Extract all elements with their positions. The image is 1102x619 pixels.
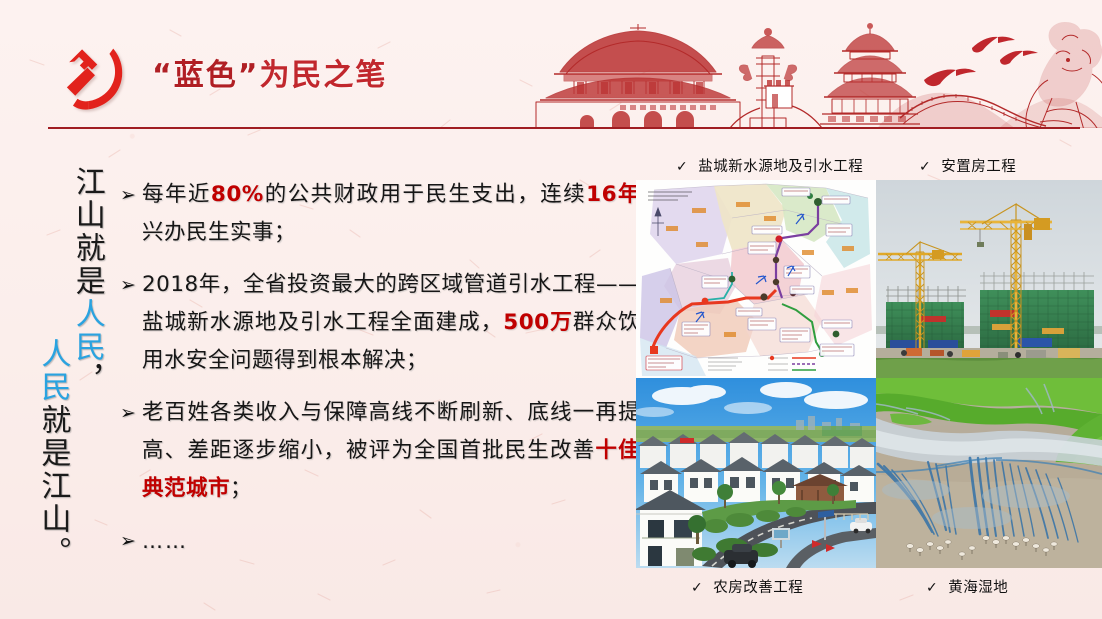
bullet-text-1: 每年近80%的公共财政用于民生支出，连续16年兴办民生实事； xyxy=(142,176,640,252)
list-item: ➢ 2018年，全省投资最大的跨区域管道引水工程——盐城新水源地及引水工程全面建… xyxy=(120,266,640,380)
check-icon: ✓ xyxy=(919,159,931,175)
bullet-text-3: 老百姓各类收入与保障高线不断刷新、底线一再提高、差距逐步缩小，被评为全国首批民生… xyxy=(142,394,640,508)
check-icon: ✓ xyxy=(926,580,938,596)
list-item: ➢ 每年近80%的公共财政用于民生支出，连续16年兴办民生实事； xyxy=(120,176,640,252)
bullet-3-seg-0: 老百姓各类收入与保障高线不断刷新、底线一再提高、差距逐步缩小，被评为全国首批民生… xyxy=(142,400,640,463)
cpc-hammer-sickle-emblem-icon xyxy=(57,40,133,118)
caption-bottom-left-label: 农房改善工程 xyxy=(713,580,803,596)
bullet-3-seg-2: ； xyxy=(230,476,252,501)
vq-l-b: 就是江山。 xyxy=(35,404,70,569)
vq-r-a: 江山就是 xyxy=(70,166,105,298)
check-icon: ✓ xyxy=(676,159,688,175)
slide-header: “蓝色”为民之笔 xyxy=(0,0,1102,132)
vq-l-a: 人民 xyxy=(35,338,70,404)
slide-canvas: “蓝色”为民之笔 xyxy=(0,0,1102,619)
bullet-arrow-icon: ➢ xyxy=(120,394,142,432)
title-quote-open: “ xyxy=(152,58,174,93)
photo-yellow-sea-wetland xyxy=(876,378,1102,568)
caption-top-left-label: 盐城新水源地及引水工程 xyxy=(698,159,863,175)
vq-r-b: 人民 xyxy=(70,298,105,364)
photo-grid: ✓盐城新水源地及引水工程 ✓安置房工程 xyxy=(636,180,1102,570)
photo-rural-village xyxy=(636,378,876,568)
list-item: ➢ 老百姓各类收入与保障高线不断刷新、底线一再提高、差距逐步缩小，被评为全国首批… xyxy=(120,394,640,508)
vq-r-c: ， xyxy=(70,364,105,397)
vertical-quote: 江山就是人民， 人民就是江山。 xyxy=(36,166,103,569)
caption-top-right: ✓安置房工程 xyxy=(919,155,1016,176)
check-icon: ✓ xyxy=(691,580,703,596)
bullet-1-seg-0: 每年近 xyxy=(142,182,211,207)
caption-top-left: ✓盐城新水源地及引水工程 xyxy=(676,155,863,176)
title-quote-close: ” xyxy=(238,58,260,93)
photo-construction-site xyxy=(876,180,1102,378)
header-divider xyxy=(48,127,1080,129)
bullet-arrow-icon: ➢ xyxy=(120,176,142,214)
page-title: “蓝色”为民之笔 xyxy=(152,50,387,94)
photo-water-source-map xyxy=(636,180,876,378)
caption-bottom-left: ✓农房改善工程 xyxy=(691,576,803,597)
bullet-1-seg-3: 16年 xyxy=(586,182,640,207)
title-rest: 为民之笔 xyxy=(259,58,387,93)
title-highlight: 蓝色 xyxy=(174,58,238,93)
bullet-list: ➢ 每年近80%的公共财政用于民生支出，连续16年兴办民生实事； ➢ 2018年… xyxy=(120,176,640,574)
tiananmen-landmark-lineart-icon xyxy=(520,6,1102,128)
vertical-quote-column-1: 江山就是人民， xyxy=(70,166,102,397)
bullet-text-2: 2018年，全省投资最大的跨区域管道引水工程——盐城新水源地及引水工程全面建成，… xyxy=(142,266,640,380)
list-item: ➢ …… xyxy=(120,522,640,560)
bullet-1-seg-2: 的公共财政用于民生支出，连续 xyxy=(264,182,586,207)
bullet-1-seg-1: 80% xyxy=(211,182,264,207)
caption-bottom-right: ✓黄海湿地 xyxy=(926,576,1008,597)
bullet-text-4: …… xyxy=(142,522,640,560)
bullet-1-seg-4: 兴办民生实事； xyxy=(142,220,296,245)
bullet-arrow-icon: ➢ xyxy=(120,266,142,304)
bullet-arrow-icon: ➢ xyxy=(120,522,142,560)
bullet-2-seg-1: 500万 xyxy=(503,310,573,335)
caption-bottom-right-label: 黄海湿地 xyxy=(948,580,1008,596)
vertical-quote-column-2: 人民就是江山。 xyxy=(36,338,68,569)
caption-top-right-label: 安置房工程 xyxy=(941,159,1016,175)
